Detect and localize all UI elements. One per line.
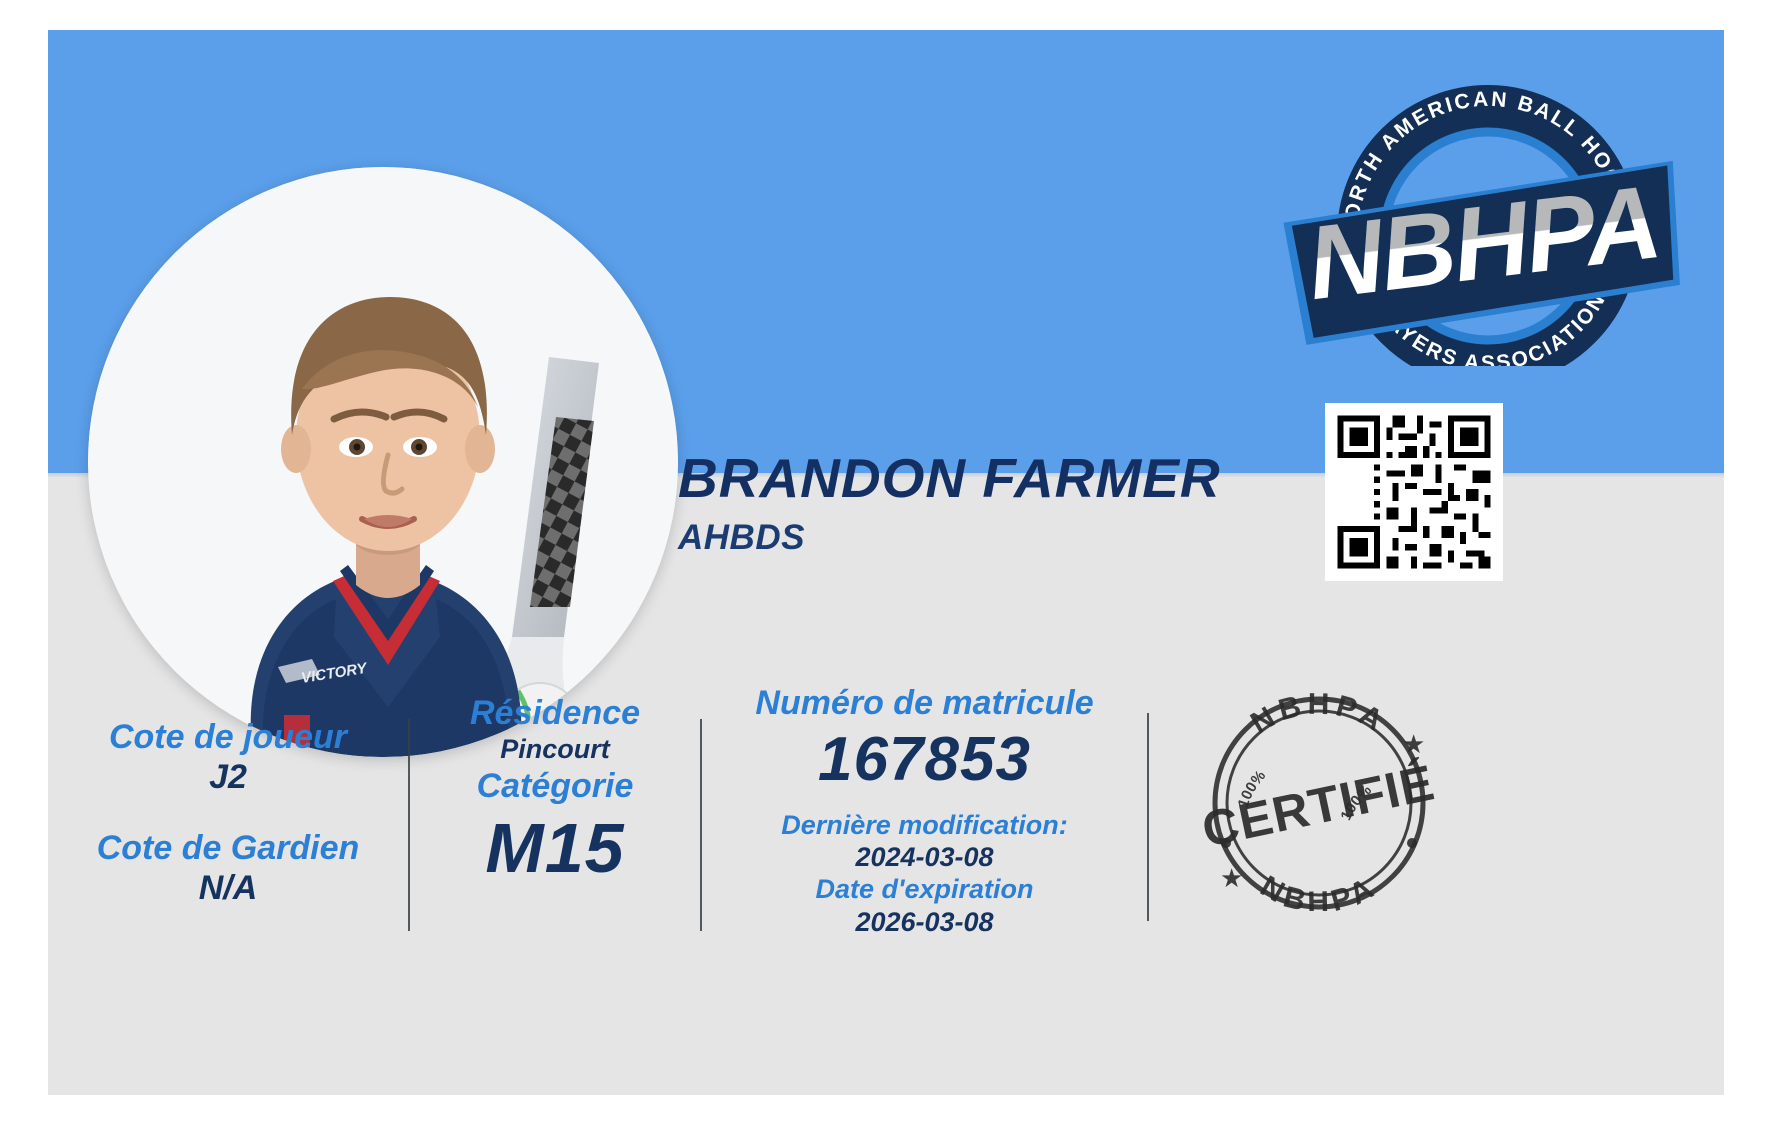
player-name: BRANDON FARMER bbox=[678, 450, 1318, 508]
last-modified-label: Dernière modification: bbox=[702, 810, 1147, 842]
matricule-label: Numéro de matricule bbox=[702, 683, 1147, 723]
residence-value: Pincourt bbox=[410, 733, 700, 765]
matricule-column: Numéro de matricule 167853 Dernière modi… bbox=[702, 675, 1147, 938]
qr-code[interactable] bbox=[1325, 403, 1503, 581]
stamp-arc-top: NBHPA bbox=[1245, 691, 1392, 740]
player-team: AHBDS bbox=[678, 518, 1318, 558]
nbhpa-logo: NORTH AMERICAN BALL HOCKEY PLAYERS ASSOC… bbox=[1278, 66, 1698, 366]
ratings-spacer bbox=[48, 798, 408, 828]
player-id-card: NORTH AMERICAN BALL HOCKEY PLAYERS ASSOC… bbox=[48, 30, 1724, 1095]
goalie-rating-label: Cote de Gardien bbox=[48, 828, 408, 868]
last-modified-value: 2024-03-08 bbox=[702, 841, 1147, 873]
stamp-arc-bottom: NBHPA bbox=[1255, 870, 1383, 911]
certified-stamp: NBHPA NBHPA 100% 100% bbox=[1184, 691, 1454, 911]
expiry-label: Date d'expiration bbox=[702, 874, 1147, 906]
matricule-spacer bbox=[702, 798, 1147, 810]
player-identity: BRANDON FARMER AHBDS bbox=[678, 450, 1318, 558]
expiry-value: 2026-03-08 bbox=[702, 906, 1147, 938]
svg-text:★: ★ bbox=[1220, 863, 1243, 893]
residence-column: Résidence Pincourt Catégorie M15 bbox=[410, 675, 700, 890]
ratings-column: Cote de joueur J2 Cote de Gardien N/A bbox=[48, 675, 408, 909]
player-rating-label: Cote de joueur bbox=[48, 717, 408, 757]
category-value: M15 bbox=[410, 806, 700, 890]
residence-label: Résidence bbox=[410, 693, 700, 733]
certification-column: NBHPA NBHPA 100% 100% bbox=[1149, 675, 1489, 911]
card-info-row: Cote de joueur J2 Cote de Gardien N/A Ré… bbox=[48, 675, 1724, 965]
matricule-value: 167853 bbox=[702, 723, 1147, 797]
goalie-rating-value: N/A bbox=[48, 868, 408, 909]
category-label: Catégorie bbox=[410, 766, 700, 806]
player-photo: VICTORY bbox=[88, 167, 678, 757]
player-rating-value: J2 bbox=[48, 757, 408, 798]
